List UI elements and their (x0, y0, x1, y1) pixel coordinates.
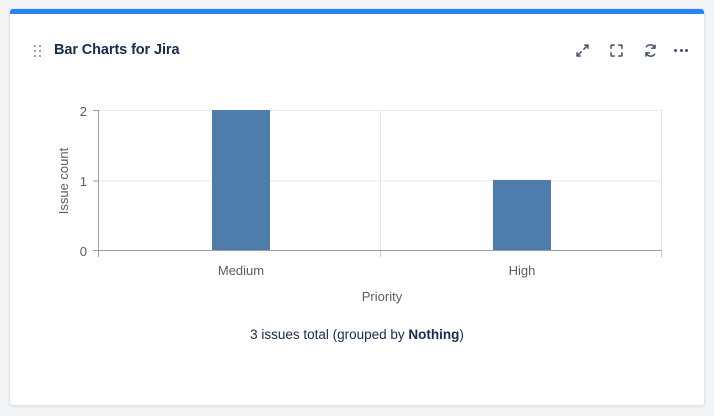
summary-group-by: Nothing (408, 327, 459, 342)
chart-svg: 2 1 0 Medium High Priority Issue count (10, 58, 705, 318)
bar-high[interactable] (493, 180, 551, 251)
x-tick-label-high: High (509, 263, 536, 278)
x-axis-label: Priority (362, 289, 403, 304)
chart-summary: 3 issues total (grouped by Nothing) (10, 327, 704, 342)
x-tick-label-medium: Medium (218, 263, 264, 278)
y-tick-label-0: 0 (80, 244, 87, 259)
header-actions (572, 40, 688, 60)
refresh-icon[interactable] (640, 40, 660, 60)
bar-medium[interactable] (212, 110, 270, 251)
page-title: Bar Charts for Jira (54, 42, 179, 58)
summary-suffix: ) (459, 327, 464, 342)
collapse-icon[interactable] (572, 40, 592, 60)
chart-card: Bar Charts for Jira (9, 8, 705, 406)
y-tick-label-1: 1 (80, 174, 87, 189)
card-header: Bar Charts for Jira (10, 14, 704, 58)
y-axis-label: Issue count (56, 147, 71, 214)
fullscreen-icon[interactable] (606, 40, 626, 60)
bar-chart: 2 1 0 Medium High Priority Issue count (10, 58, 704, 318)
more-options-icon[interactable] (674, 40, 688, 60)
drag-handle-icon[interactable] (34, 45, 41, 57)
y-tick-label-2: 2 (80, 104, 87, 119)
summary-prefix: 3 issues total (grouped by (250, 327, 408, 342)
